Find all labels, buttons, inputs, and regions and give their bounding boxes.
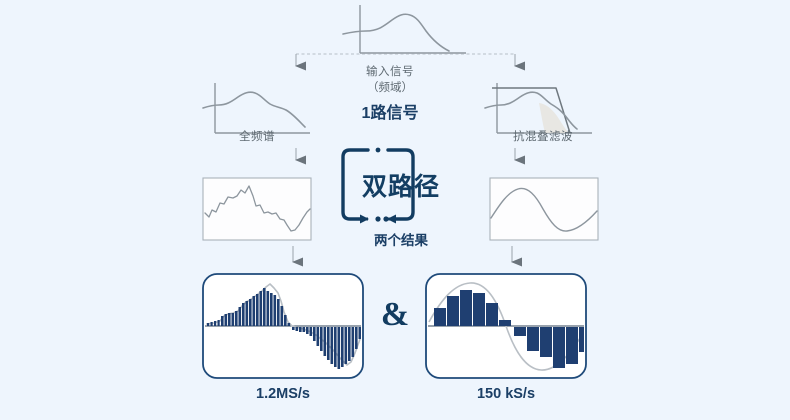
diagram-canvas: 输入信号 （频域） 1路信号 全频谱 抗混叠滤波 双路径 两个结果 & 1.2M… bbox=[0, 0, 790, 420]
ampersand-separator: & bbox=[372, 296, 418, 334]
input-signal-label-line2: （频域） bbox=[340, 79, 440, 95]
high-rate-label: 1.2MS/s bbox=[233, 386, 333, 402]
chart-input-spectrum bbox=[343, 5, 466, 53]
chart-antialias-filter bbox=[485, 83, 592, 133]
full-spectrum-caption: 全频谱 bbox=[207, 128, 307, 144]
low-rate-label: 150 kS/s bbox=[456, 386, 556, 402]
panel-right-sine-waveform bbox=[490, 178, 598, 240]
input-signal-label-line1: 输入信号 bbox=[340, 63, 440, 79]
antialias-filter-caption: 抗混叠滤波 bbox=[488, 128, 598, 144]
panel-high-rate-samples bbox=[203, 274, 363, 378]
chart-full-spectrum bbox=[203, 83, 310, 133]
dual-path-badge-text: 双路径 bbox=[346, 167, 456, 203]
panel-left-noisy-waveform bbox=[203, 178, 311, 240]
one-channel-headline: 1路信号 bbox=[340, 99, 440, 123]
panel-low-rate-samples bbox=[426, 274, 589, 378]
two-results-label: 两个结果 bbox=[346, 229, 456, 249]
